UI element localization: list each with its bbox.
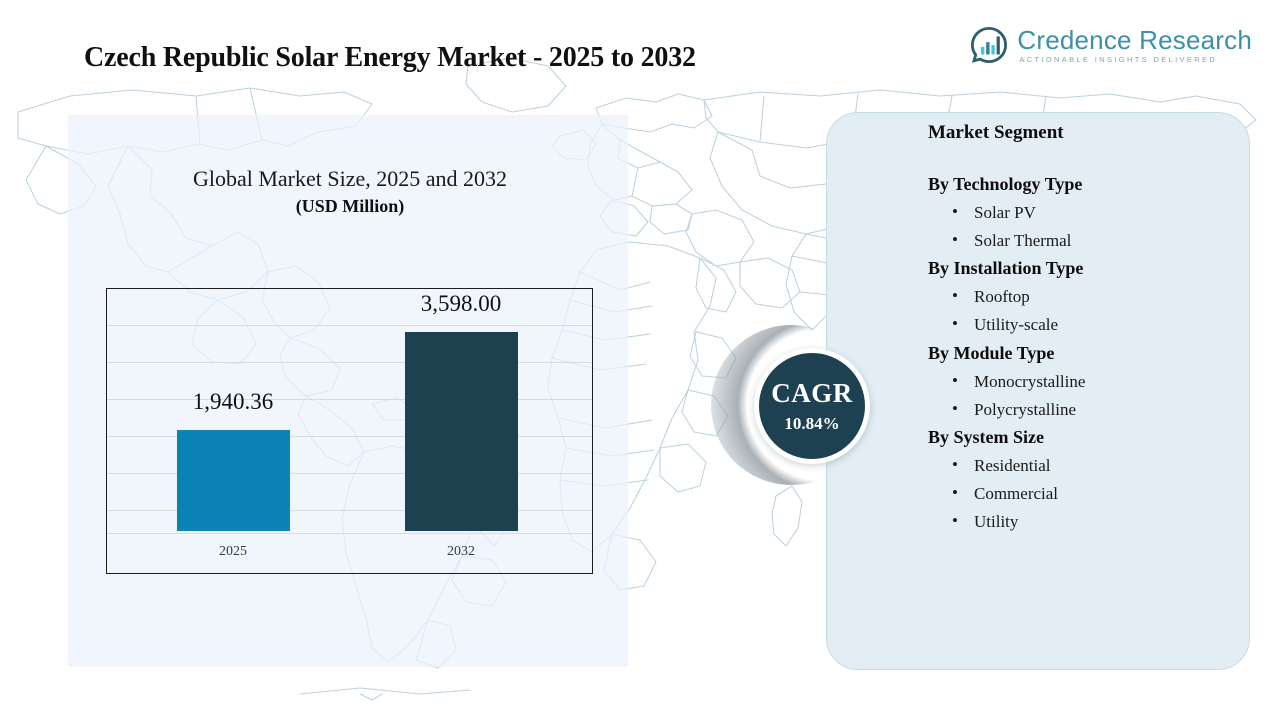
bar-chart: 1,940.36 3,598.00 2025 2032 <box>106 288 593 574</box>
segment-item: Solar Thermal <box>928 227 1248 255</box>
chart-gridline <box>107 362 592 363</box>
segment-group: By Module TypeMonocrystallinePolycrystal… <box>928 340 1248 424</box>
bar-2025 <box>177 430 290 531</box>
bar-value-2025: 1,940.36 <box>153 389 313 415</box>
segment-item-list: MonocrystallinePolycrystalline <box>928 368 1248 424</box>
segment-group: By System SizeResidentialCommercialUtili… <box>928 424 1248 537</box>
cagr-value: 10.84% <box>784 414 839 434</box>
brand-logo: Credence Research Actionable Insights De… <box>970 26 1252 64</box>
segment-item: Commercial <box>928 480 1248 508</box>
segment-group-list: By Technology TypeSolar PVSolar ThermalB… <box>928 171 1248 537</box>
bar-chart-bubble-icon <box>970 26 1008 64</box>
segment-item-list: ResidentialCommercialUtility <box>928 452 1248 537</box>
segment-group: By Installation TypeRooftopUtility-scale <box>928 255 1248 339</box>
segment-item: Monocrystalline <box>928 368 1248 396</box>
segment-heading: Market Segment <box>928 122 1248 144</box>
page-title: Czech Republic Solar Energy Market - 202… <box>84 42 696 74</box>
segment-item: Utility-scale <box>928 311 1248 339</box>
segment-group-title: By Installation Type <box>928 255 1248 283</box>
brand-logo-text: Credence Research Actionable Insights De… <box>1017 27 1252 64</box>
chart-gridline <box>107 325 592 326</box>
brand-name: Credence Research <box>1017 27 1252 53</box>
brand-tagline: Actionable Insights Delivered <box>1019 56 1252 64</box>
segment-item-list: Solar PVSolar Thermal <box>928 199 1248 255</box>
bar-value-2032: 3,598.00 <box>381 291 541 317</box>
bar-category-2032: 2032 <box>381 544 541 560</box>
segment-item: Residential <box>928 452 1248 480</box>
chart-subtitle: (USD Million) <box>100 196 600 217</box>
chart-gridline <box>107 533 592 534</box>
chart-title: Global Market Size, 2025 and 2032 <box>100 166 600 192</box>
segment-item: Solar PV <box>928 199 1248 227</box>
cagr-label: CAGR <box>771 378 853 409</box>
chart-title-block: Global Market Size, 2025 and 2032 (USD M… <box>100 166 600 217</box>
segment-item: Polycrystalline <box>928 396 1248 424</box>
segment-item: Rooftop <box>928 283 1248 311</box>
market-segment-panel: Market Segment By Technology TypeSolar P… <box>928 122 1248 537</box>
segment-group-title: By Module Type <box>928 340 1248 368</box>
segment-item-list: RooftopUtility-scale <box>928 283 1248 339</box>
segment-group-title: By Technology Type <box>928 171 1248 199</box>
segment-group: By Technology TypeSolar PVSolar Thermal <box>928 171 1248 255</box>
cagr-badge: CAGR 10.84% <box>755 349 869 463</box>
segment-group-title: By System Size <box>928 424 1248 452</box>
bar-category-2025: 2025 <box>153 544 313 560</box>
segment-item: Utility <box>928 508 1248 536</box>
bar-2032 <box>405 332 518 531</box>
